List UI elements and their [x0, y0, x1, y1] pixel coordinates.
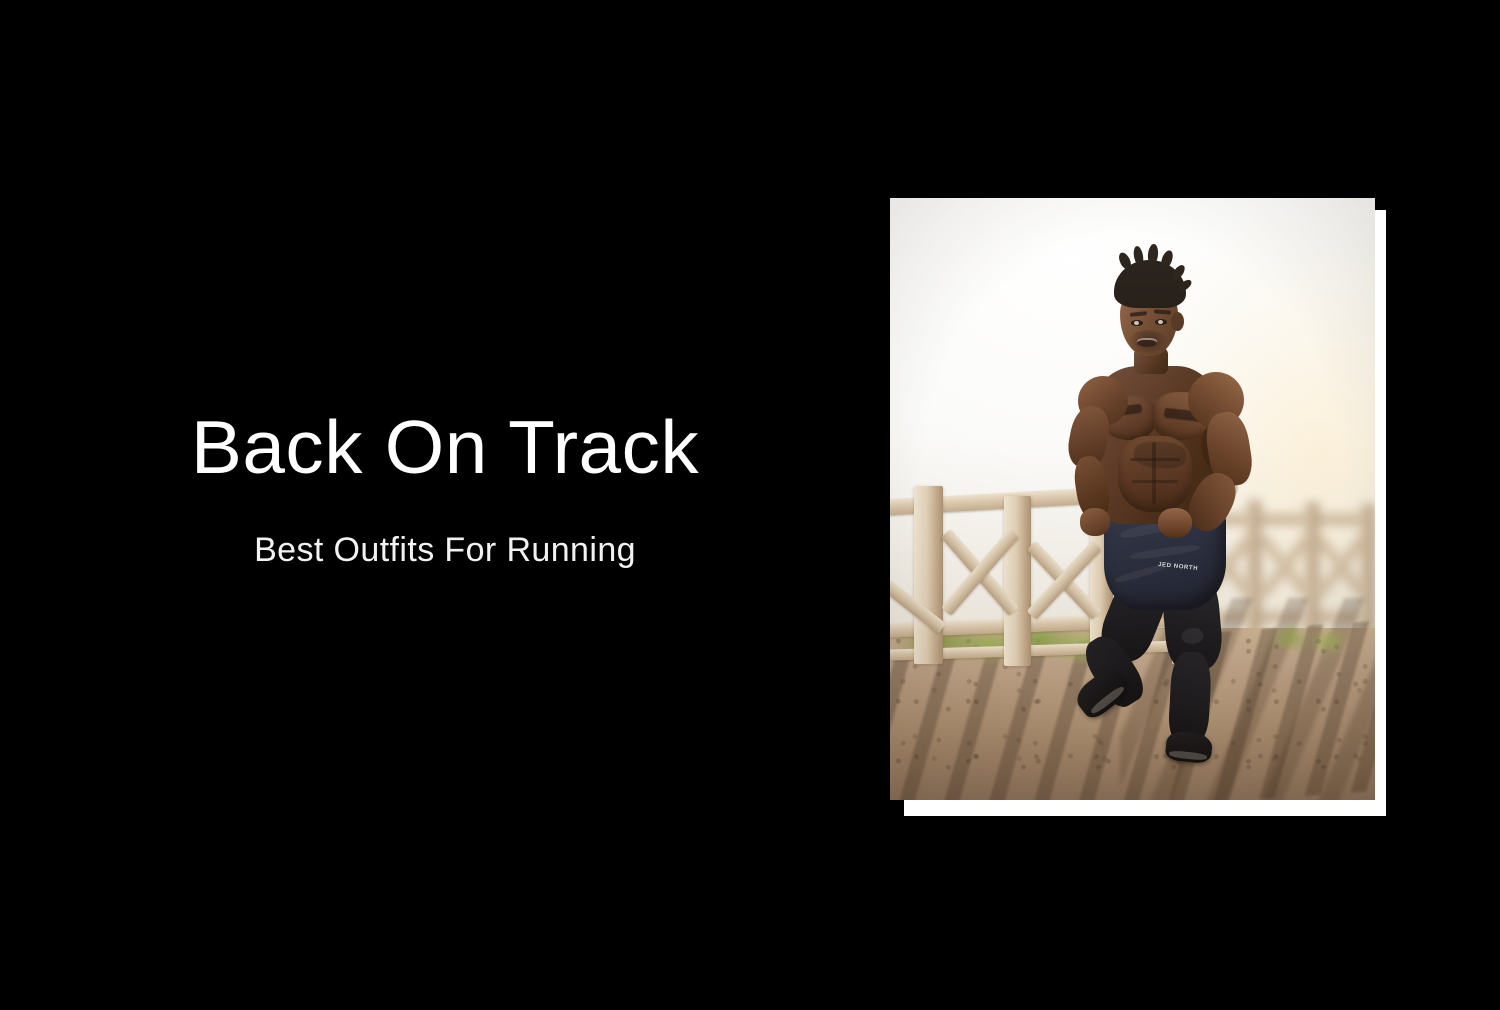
runner-figure: JED NORTH [1042, 220, 1272, 780]
runner-eye-highlight-right [1158, 320, 1163, 324]
slide-canvas: Back On Track Best Outfits For Running [0, 0, 1500, 1010]
runner-back-shin [1168, 651, 1213, 745]
runner-mouth [1137, 338, 1157, 347]
hero-photograph: JED NORTH [890, 198, 1375, 800]
runner-eye-highlight-left [1134, 321, 1139, 325]
runner-fist-right [1158, 508, 1192, 538]
page-title: Back On Track [0, 410, 899, 485]
page-subtitle: Best Outfits For Running [0, 485, 890, 567]
vegetation-right [1262, 622, 1358, 656]
runner-shoe-back [1165, 730, 1214, 765]
runner-fist-left [1080, 508, 1110, 536]
photo-composition: JED NORTH [890, 198, 1386, 816]
runner-ear [1171, 312, 1184, 331]
headline-block: Back On Track Best Outfits For Running [0, 410, 890, 567]
